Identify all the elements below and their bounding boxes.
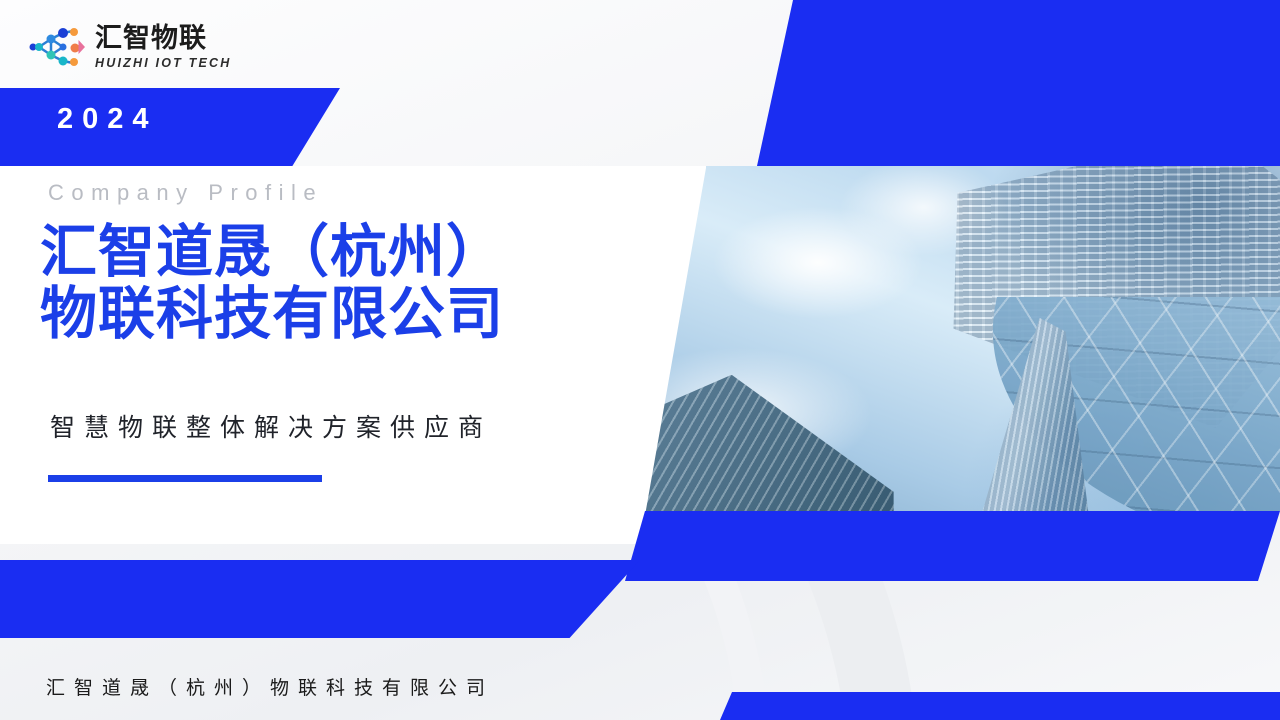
title-line-2: 物联科技有限公司 [40,284,504,346]
photo-sky-layer [620,166,1280,511]
mid-right-blue-band [625,511,1280,581]
page-subtitle: 智慧物联整体解决方案供应商 [50,408,492,444]
bottom-left-blue-band [0,560,640,638]
molecule-network-icon [28,22,86,72]
bottom-right-blue-band [720,692,1280,720]
year-label: 2024 [57,103,158,136]
skyscraper-photo [620,166,1280,511]
title-underline-rule [48,475,322,482]
logo-english-name: HUIZHI IOT TECH [95,57,231,70]
eyebrow-company-profile: Company Profile [48,180,323,206]
page-title: 汇智道晟（杭州） 物联科技有限公司 [40,222,504,345]
top-right-blue-band [740,0,1280,166]
title-line-1: 汇智道晟（杭州） [40,222,504,284]
logo-chinese-name: 汇智物联 [95,25,231,52]
logo-wordmark: 汇智物联 HUIZHI IOT TECH [95,25,231,70]
slide-canvas: 汇智物联 HUIZHI IOT TECH 2024 Company Profil… [0,0,1280,720]
footer-company-name: 汇智道晟（杭州）物联科技有限公司 [46,673,494,700]
company-logo[interactable]: 汇智物联 HUIZHI IOT TECH [28,22,231,72]
year-banner [0,88,340,166]
